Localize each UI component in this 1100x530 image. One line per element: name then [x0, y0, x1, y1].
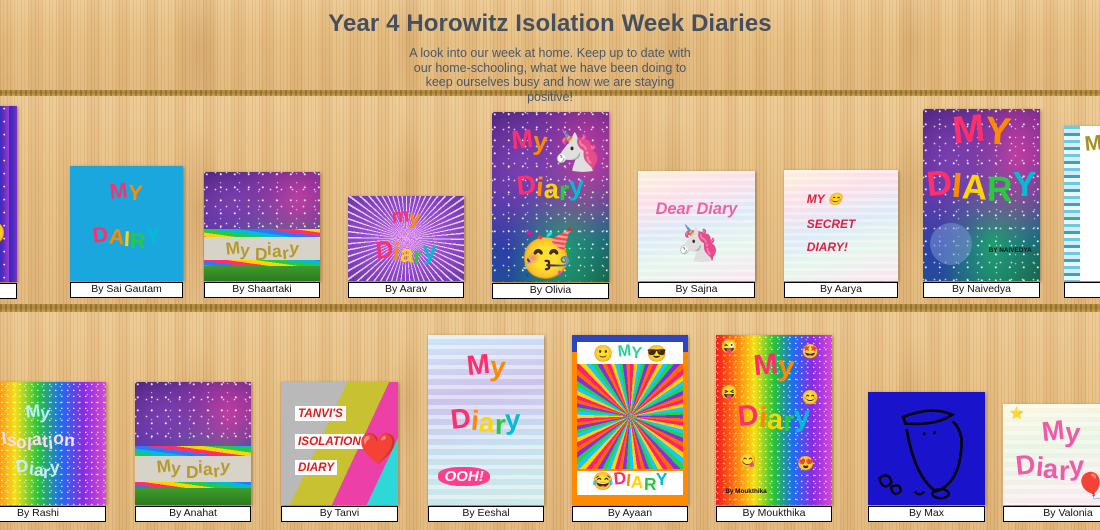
book-cover[interactable]: y 😄 — [0, 106, 17, 282]
book-card[interactable]: 🙂 MY 😎 😂DIARYBy Ayaan — [572, 335, 688, 523]
book-cover[interactable]: My Isolation Diary — [0, 382, 106, 505]
book-cover[interactable]: My 🦄 Diary 🥳 — [492, 112, 609, 282]
book-card[interactable]: My Isolation DiaryBy Rashi — [0, 382, 106, 523]
book-author-label: By Aarya — [784, 282, 898, 298]
book-author-label: By Ayaan — [572, 506, 688, 522]
shelf-edge-middle — [0, 304, 1100, 312]
book-author-label: By Tanvi — [281, 506, 398, 522]
book-author-label: a — [0, 283, 17, 299]
book-cover[interactable] — [868, 392, 985, 505]
book-author-label: By Moukthika — [716, 506, 832, 522]
book-cover[interactable]: MY DIARY BY NAIVEDYA — [923, 109, 1040, 281]
book-author-label — [1064, 282, 1100, 298]
page-header: Year 4 Horowitz Isolation Week Diaries A… — [0, 0, 1100, 90]
book-cover[interactable]: My Diary OOH! — [428, 335, 544, 505]
bookshelf-row-2: My Isolation DiaryBy Rashi My DiaryBy An… — [0, 312, 1100, 530]
book-cover[interactable]: my Diary — [348, 196, 464, 281]
book-author-label: By Anahat — [135, 506, 251, 522]
book-card[interactable]: my DiaryBy Aarav — [348, 196, 464, 299]
book-cover[interactable]: My Diary — [135, 382, 251, 505]
book-cover[interactable]: MY DAIRY — [70, 166, 183, 281]
book-card[interactable]: By Max — [868, 392, 985, 523]
book-author-label: By Sajna — [638, 282, 755, 298]
book-card[interactable]: MY DIARY BY NAIVEDYABy Naivedya — [923, 109, 1040, 299]
book-card[interactable]: TANVI'S ISOLATION DIARY ❤️By Tanvi — [281, 382, 398, 523]
book-card[interactable]: My DiaryBy Shaartaki — [204, 172, 320, 299]
book-cover[interactable]: MY 😊 SECRET DIARY! — [784, 170, 898, 281]
book-author-label: By Max — [868, 506, 985, 522]
book-author-label: By Eeshal — [428, 506, 544, 522]
book-cover[interactable]: M 😊 — [1064, 126, 1100, 281]
book-author-label: By Olivia — [492, 283, 609, 299]
book-card[interactable]: MY DAIRYBy Sai Gautam — [70, 166, 183, 299]
page-title: Year 4 Horowitz Isolation Week Diaries — [0, 0, 1100, 38]
book-author-label: By Sai Gautam — [70, 282, 183, 298]
book-cover[interactable]: 🙂 MY 😎 😂DIARY — [572, 335, 688, 505]
book-card[interactable]: My Diary 🎈 ⭐By Valonia — [1003, 404, 1100, 523]
book-card[interactable]: Dear Diary 🦄By Sajna — [638, 171, 755, 299]
book-cover[interactable]: My Diary — [204, 172, 320, 281]
book-cover[interactable]: Dear Diary 🦄 — [638, 171, 755, 281]
page-subtitle: A look into our week at home. Keep up to… — [405, 46, 695, 104]
book-cover[interactable]: My Diary 😜 🤩 😝 😊 😋 😍 By Moukthika — [716, 335, 832, 505]
book-author-label: By Shaartaki — [204, 282, 320, 298]
book-author-label: By Naivedya — [923, 282, 1040, 298]
book-author-label: By Valonia — [1003, 506, 1100, 522]
book-card[interactable]: MY 😊 SECRET DIARY!By Aarya — [784, 170, 898, 299]
book-card[interactable]: M 😊 — [1064, 126, 1100, 299]
book-cover[interactable]: My Diary 🎈 ⭐ — [1003, 404, 1100, 505]
book-card[interactable]: y 😄a — [0, 106, 17, 300]
book-author-label: By Aarav — [348, 282, 464, 298]
book-card[interactable]: My Diary OOH!By Eeshal — [428, 335, 544, 523]
book-card[interactable]: My Diary 😜 🤩 😝 😊 😋 😍 By MoukthikaBy Mouk… — [716, 335, 832, 523]
book-card[interactable]: My 🦄 Diary 🥳By Olivia — [492, 112, 609, 300]
book-cover[interactable]: TANVI'S ISOLATION DIARY ❤️ — [281, 382, 398, 505]
book-author-label: By Rashi — [0, 506, 106, 522]
bookshelf-row-1: y 😄a MY DAIRYBy Sai Gautam My DiaryBy Sh… — [0, 96, 1100, 304]
book-card[interactable]: My DiaryBy Anahat — [135, 382, 251, 523]
